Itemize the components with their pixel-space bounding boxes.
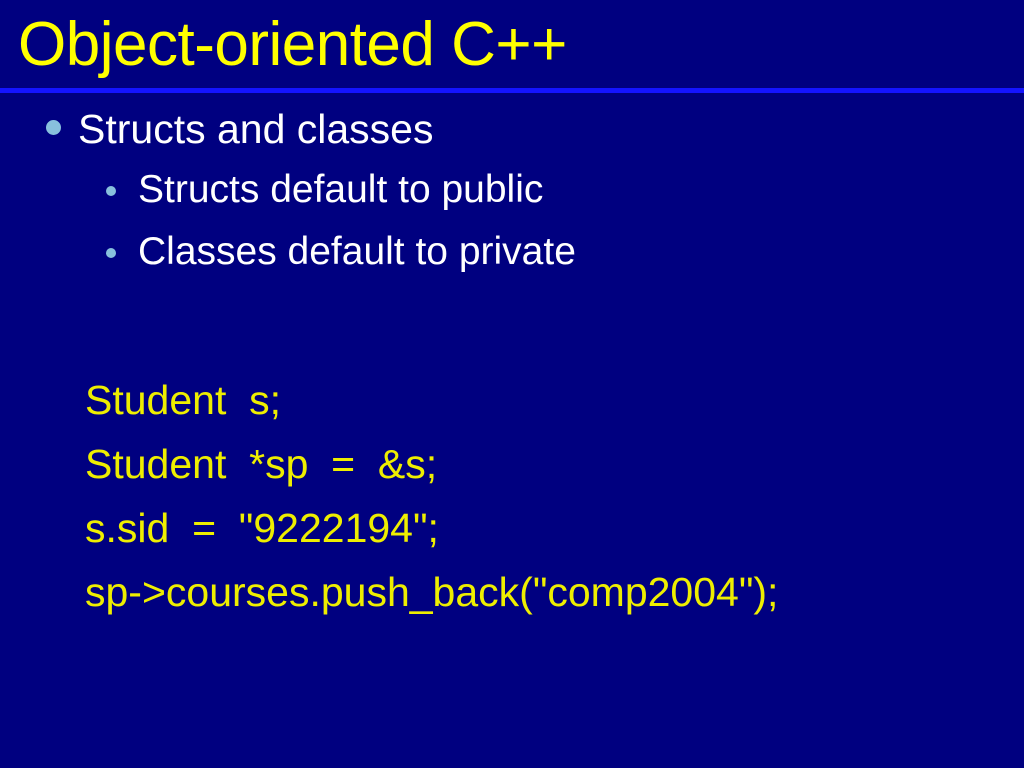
bullet-list: Structs and classes Structs default to p… [0, 104, 1024, 286]
page-title: Object-oriented C++ [18, 8, 1008, 84]
list-item: Structs default to public [0, 162, 1024, 224]
disc-bullet-icon [106, 186, 116, 196]
title-divider-rule [0, 88, 1024, 93]
code-sample: Student s; Student *sp = &s; s.sid = "92… [85, 368, 1005, 624]
code-line: Student s; [85, 368, 1005, 432]
list-item: Structs and classes [0, 104, 1024, 162]
presentation-slide: Object-oriented C++ Structs and classes … [0, 0, 1024, 768]
list-item-label: Classes default to private [138, 224, 576, 280]
disc-bullet-icon [106, 248, 116, 258]
list-item: Classes default to private [0, 224, 1024, 286]
disc-bullet-icon [46, 120, 61, 135]
list-item-label: Structs default to public [138, 162, 543, 218]
code-line: Student *sp = &s; [85, 432, 1005, 496]
list-item-label: Structs and classes [78, 104, 434, 154]
code-line: sp->courses.push_back("comp2004"); [85, 560, 1005, 624]
code-line: s.sid = "9222194"; [85, 496, 1005, 560]
